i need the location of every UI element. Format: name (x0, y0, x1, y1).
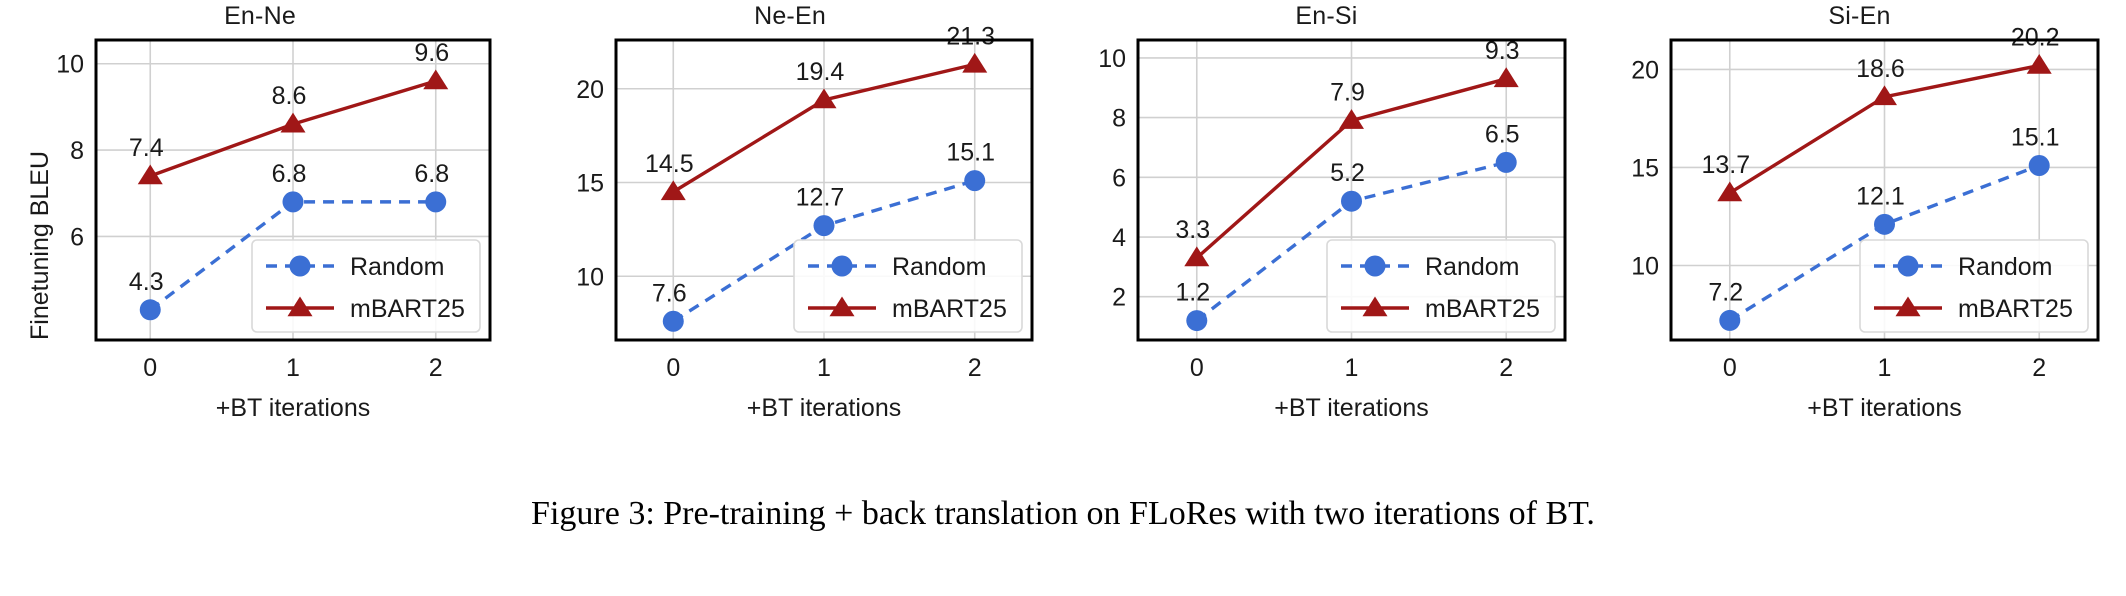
data-point-marker (425, 191, 446, 212)
x-axis-label: +BT iterations (96, 394, 490, 423)
data-point-label: 5.2 (1330, 159, 1365, 187)
x-axis-label: +BT iterations (1138, 394, 1565, 423)
x-axis-label: +BT iterations (1671, 394, 2098, 423)
data-point-label: 12.1 (1856, 182, 1905, 210)
y-tick-label: 4 (1112, 224, 1126, 252)
panel-row: En-Ne4.36.86.87.48.69.66810012RandommBAR… (0, 0, 2126, 470)
legend: RandommBART25 (1327, 240, 1555, 332)
y-tick-label: 10 (576, 263, 604, 291)
x-tick-label: 1 (817, 354, 831, 382)
data-point-label: 9.6 (414, 39, 449, 67)
chart-panel-si-en: Si-En7.212.115.113.718.620.2101520012Ran… (1593, 0, 2126, 470)
legend-label-mbart25: mBART25 (350, 295, 465, 323)
data-point-marker (1496, 152, 1517, 173)
x-tick-label: 0 (666, 354, 680, 382)
data-point-marker (663, 311, 684, 332)
y-tick-label: 8 (70, 137, 84, 165)
legend-marker-random (1898, 256, 1919, 277)
x-tick-label: 0 (1190, 354, 1204, 382)
data-point-label: 6.8 (272, 160, 307, 188)
legend-marker-random (290, 256, 311, 277)
data-point-marker (964, 170, 985, 191)
data-point-label: 18.6 (1856, 55, 1905, 83)
data-point-label: 7.9 (1330, 79, 1365, 107)
data-point-label: 8.6 (272, 82, 307, 110)
y-tick-label: 15 (576, 170, 604, 198)
data-point-marker (1874, 214, 1895, 235)
data-point-label: 14.5 (645, 150, 694, 178)
legend-label-random: Random (892, 253, 987, 281)
data-point-label: 6.5 (1485, 120, 1520, 148)
x-tick-label: 1 (286, 354, 300, 382)
legend-marker-random (832, 256, 853, 277)
data-point-label: 20.2 (2011, 23, 2060, 51)
data-point-marker (140, 299, 161, 320)
legend-label-mbart25: mBART25 (892, 295, 1007, 323)
chart-panel-ne-en: Ne-En7.612.715.114.519.421.3101520012Ran… (520, 0, 1060, 470)
legend-label-mbart25: mBART25 (1958, 295, 2073, 323)
data-point-marker (1341, 191, 1362, 212)
y-tick-label: 20 (576, 76, 604, 104)
data-point-label: 1.2 (1175, 279, 1210, 307)
y-tick-label: 10 (1631, 252, 1659, 280)
legend: RandommBART25 (794, 240, 1022, 332)
data-point-marker (2029, 155, 2050, 176)
figure-root: En-Ne4.36.86.87.48.69.66810012RandommBAR… (0, 0, 2126, 596)
legend-marker-random (1365, 256, 1386, 277)
x-tick-label: 1 (1345, 354, 1359, 382)
figure-caption: Figure 3: Pre-training + back translatio… (0, 495, 2126, 533)
x-tick-label: 2 (2032, 354, 2046, 382)
data-point-label: 19.4 (796, 58, 845, 86)
data-point-label: 13.7 (1701, 151, 1750, 179)
data-point-label: 12.7 (796, 184, 845, 212)
legend: RandommBART25 (1860, 240, 2088, 332)
y-tick-label: 10 (56, 51, 84, 79)
chart-panel-en-ne: En-Ne4.36.86.87.48.69.66810012RandommBAR… (0, 0, 520, 470)
x-tick-label: 2 (1499, 354, 1513, 382)
x-tick-label: 2 (968, 354, 982, 382)
data-point-marker (283, 191, 304, 212)
data-point-marker (1186, 310, 1207, 331)
y-tick-label: 6 (1112, 164, 1126, 192)
x-tick-label: 0 (1723, 354, 1737, 382)
legend-label-random: Random (1425, 253, 1520, 281)
legend-label-random: Random (350, 253, 445, 281)
x-tick-label: 2 (429, 354, 443, 382)
x-tick-label: 0 (143, 354, 157, 382)
y-axis-label: Finetuning BLEU (26, 151, 55, 340)
legend-label-random: Random (1958, 253, 2053, 281)
data-point-label: 15.1 (2011, 123, 2060, 151)
data-point-marker (814, 215, 835, 236)
y-tick-label: 10 (1098, 45, 1126, 73)
data-point-marker (1719, 310, 1740, 331)
data-point-label: 7.4 (129, 134, 164, 162)
legend: RandommBART25 (252, 240, 480, 332)
data-point-label: 7.2 (1708, 278, 1743, 306)
data-point-label: 4.3 (129, 268, 164, 296)
chart-panel-en-si: En-Si1.25.26.53.37.99.3246810012RandommB… (1060, 0, 1593, 470)
y-tick-label: 15 (1631, 154, 1659, 182)
data-point-label: 15.1 (946, 139, 995, 167)
x-axis-label: +BT iterations (616, 394, 1032, 423)
x-tick-label: 1 (1878, 354, 1892, 382)
data-point-label: 6.8 (414, 160, 449, 188)
y-tick-label: 20 (1631, 56, 1659, 84)
y-tick-label: 8 (1112, 105, 1126, 133)
legend-label-mbart25: mBART25 (1425, 295, 1540, 323)
data-point-label: 7.6 (652, 279, 687, 307)
data-point-label: 21.3 (946, 22, 995, 50)
y-tick-label: 2 (1112, 284, 1126, 312)
y-tick-label: 6 (70, 223, 84, 251)
data-point-label: 3.3 (1175, 216, 1210, 244)
